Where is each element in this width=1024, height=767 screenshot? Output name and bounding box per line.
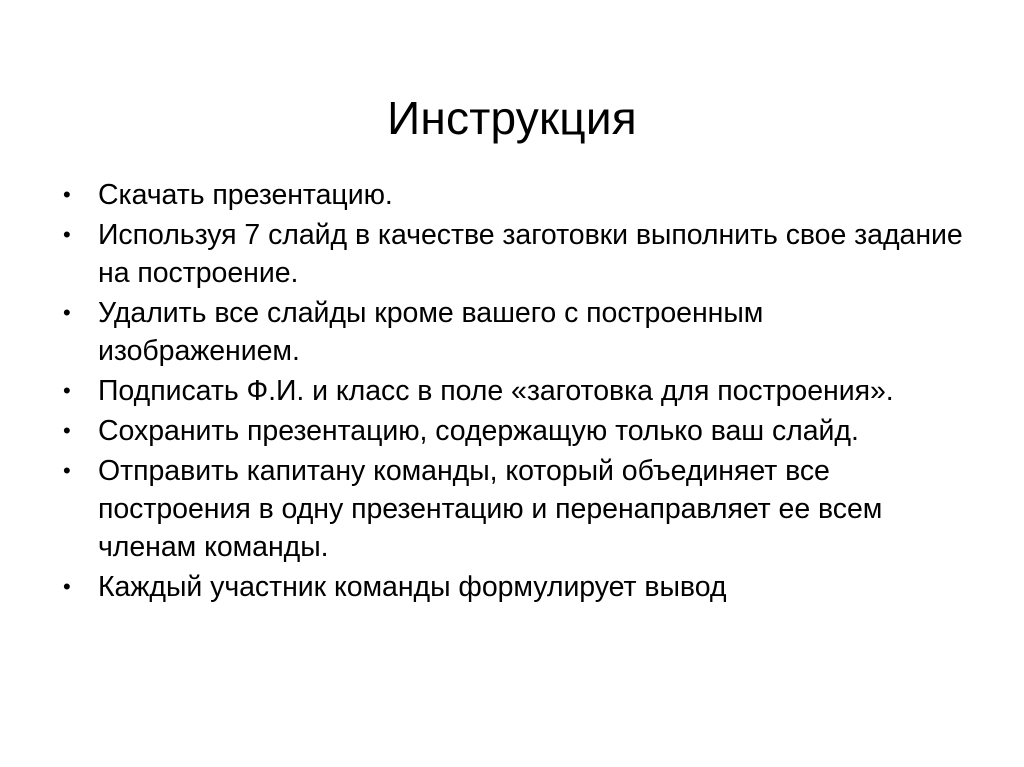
bullet-point-icon: • [63, 452, 83, 490]
bullet-point-icon: • [63, 294, 83, 332]
bullet-item: • Удалить все слайды кроме вашего с пост… [52, 294, 972, 370]
bullet-item-text: Каждый участник команды формулирует выво… [98, 568, 972, 606]
bullet-point-icon: • [63, 372, 83, 410]
bullet-point-icon: • [63, 216, 83, 254]
slide-title: Инструкция [0, 93, 1024, 145]
bullet-item: • Каждый участник команды формулирует вы… [52, 568, 972, 606]
bullet-item-text: Подписать Ф.И. и класс в поле «заготовка… [98, 372, 972, 410]
bullet-item: • Сохранить презентацию, содержащую толь… [52, 412, 972, 450]
bullet-item: • Скачать презентацию. [52, 176, 972, 214]
bullet-item: • Используя 7 слайд в качестве заготовки… [52, 216, 972, 292]
bullet-item: • Подписать Ф.И. и класс в поле «заготов… [52, 372, 972, 410]
instruction-bullet-list: • Скачать презентацию. • Используя 7 сла… [52, 176, 972, 606]
slide-body-placeholder: • Скачать презентацию. • Используя 7 сла… [52, 176, 972, 608]
bullet-item-text: Скачать презентацию. [98, 176, 972, 214]
bullet-point-icon: • [63, 176, 83, 214]
bullet-point-icon: • [63, 412, 83, 450]
bullet-point-icon: • [63, 568, 83, 606]
bullet-item-text: Используя 7 слайд в качестве заготовки в… [98, 216, 972, 292]
bullet-item-text: Сохранить презентацию, содержащую только… [98, 412, 972, 450]
bullet-item-text: Отправить капитану команды, который объе… [98, 452, 972, 566]
presentation-slide: Инструкция • Скачать презентацию. • Испо… [0, 0, 1024, 767]
bullet-item: • Отправить капитану команды, который об… [52, 452, 972, 566]
bullet-item-text: Удалить все слайды кроме вашего с постро… [98, 294, 972, 370]
